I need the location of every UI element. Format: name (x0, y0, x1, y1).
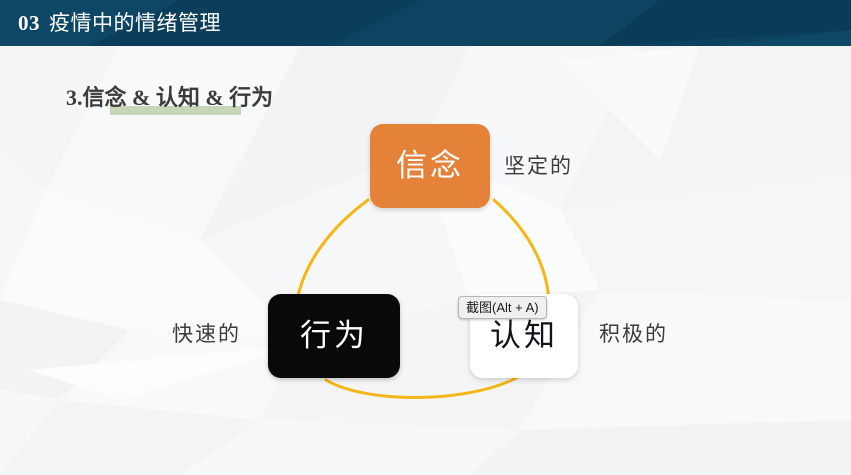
screenshot-tooltip-label: 截图(Alt + A) (466, 300, 539, 316)
descriptor-label-belief: 坚定的 (504, 151, 573, 181)
cycle-node-belief[interactable]: 信念 (370, 124, 490, 208)
slide-header-bar: 03疫情中的情绪管理 (0, 0, 851, 46)
screenshot-tooltip[interactable]: 截图(Alt + A) (458, 296, 547, 319)
page-title-text: 疫情中的情绪管理 (49, 11, 221, 35)
slide-canvas: 03疫情中的情绪管理 3.信念 & 认知 & 行为 信念 坚定的 行为 快速的 … (0, 0, 851, 475)
cycle-node-belief-label: 信念 (396, 146, 464, 186)
subtitle: 3.信念 & 认知 & 行为 (66, 82, 273, 114)
descriptor-label-cognition: 积极的 (599, 319, 668, 349)
background-polygon-texture (0, 0, 851, 475)
cycle-arc-group (0, 0, 851, 475)
descriptor-label-behavior: 快速的 (172, 319, 241, 349)
arc-belief-to-cognition (494, 200, 549, 300)
cycle-node-behavior[interactable]: 行为 (268, 294, 400, 378)
subtitle-text: 3.信念 & 认知 & 行为 (66, 85, 273, 110)
cycle-node-behavior-label: 行为 (300, 316, 368, 356)
page-title-index: 03 (18, 11, 40, 35)
arc-belief-to-behavior (297, 200, 368, 300)
cycle-node-cognition-label: 认知 (490, 316, 558, 356)
arc-behavior-to-cognition (326, 376, 520, 398)
page-title: 03疫情中的情绪管理 (18, 8, 221, 38)
